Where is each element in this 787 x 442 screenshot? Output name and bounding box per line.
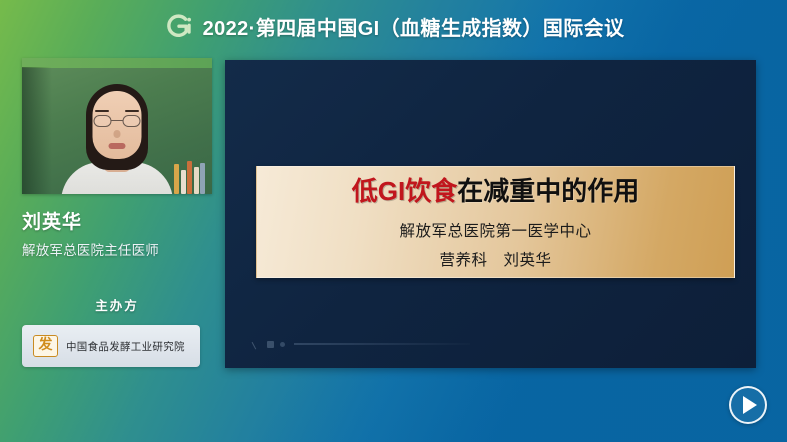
dot-mark-icon xyxy=(280,342,285,347)
presenter-mouth xyxy=(109,143,126,149)
fermentation-institute-emblem-icon: 发 xyxy=(33,335,58,357)
presenter-sidebar: 刘英华 解放军总医院主任医师 主办方 发 中国食品发酵工业研究院 xyxy=(22,58,212,428)
conference-player-stage: 2022·第四届中国GI（血糖生成指数）国际会议 xyxy=(0,0,787,442)
presenter-eyebrow-right xyxy=(125,110,139,112)
slide-title-rest: 在减重中的作用 xyxy=(457,176,639,206)
play-icon xyxy=(743,396,757,414)
slide-subtitle-line1: 解放军总医院第一医学中心 xyxy=(399,219,591,241)
slide-annotation-marks xyxy=(253,340,470,348)
gi-logo-icon xyxy=(163,11,194,42)
presenter-affiliation: 解放军总医院主任医师 xyxy=(22,239,212,259)
presenter-nose xyxy=(114,130,121,138)
slide-title-box: 低GI饮食在减重中的作用 解放军总医院第一医学中心 营养科 刘英华 xyxy=(256,166,735,278)
slide-title-highlight: 低GI饮食 xyxy=(352,176,457,206)
square-mark-icon xyxy=(267,341,274,348)
slide-title: 低GI饮食在减重中的作用 xyxy=(352,177,639,207)
sponsor-section-label: 主办方 xyxy=(22,295,212,314)
conference-header: 2022·第四届中国GI（血糖生成指数）国际会议 xyxy=(0,0,787,52)
play-button[interactable] xyxy=(729,386,767,424)
glasses-bridge xyxy=(112,120,123,121)
pen-mark-icon xyxy=(252,339,263,350)
sponsor-name: 中国食品发酵工业研究院 xyxy=(66,339,185,354)
presenter-eyebrow-left xyxy=(95,110,109,112)
presenter-name: 刘英华 xyxy=(22,207,212,234)
glasses-lens-right xyxy=(123,115,141,127)
slide-subtitle-line2: 营养科 刘英华 xyxy=(439,248,551,270)
underline-mark xyxy=(294,343,470,344)
presentation-slide[interactable]: 低GI饮食在减重中的作用 解放军总医院第一医学中心 营养科 刘英华 xyxy=(225,60,756,368)
presenter-video-feed[interactable] xyxy=(22,58,212,194)
video-left-shadow xyxy=(22,67,52,194)
bookshelf-objects xyxy=(174,158,210,194)
presenter-glasses xyxy=(94,115,141,127)
glasses-lens-left xyxy=(94,115,112,127)
conference-title: 2022·第四届中国GI（血糖生成指数）国际会议 xyxy=(203,12,625,41)
sponsor-card[interactable]: 发 中国食品发酵工业研究院 xyxy=(22,325,200,367)
